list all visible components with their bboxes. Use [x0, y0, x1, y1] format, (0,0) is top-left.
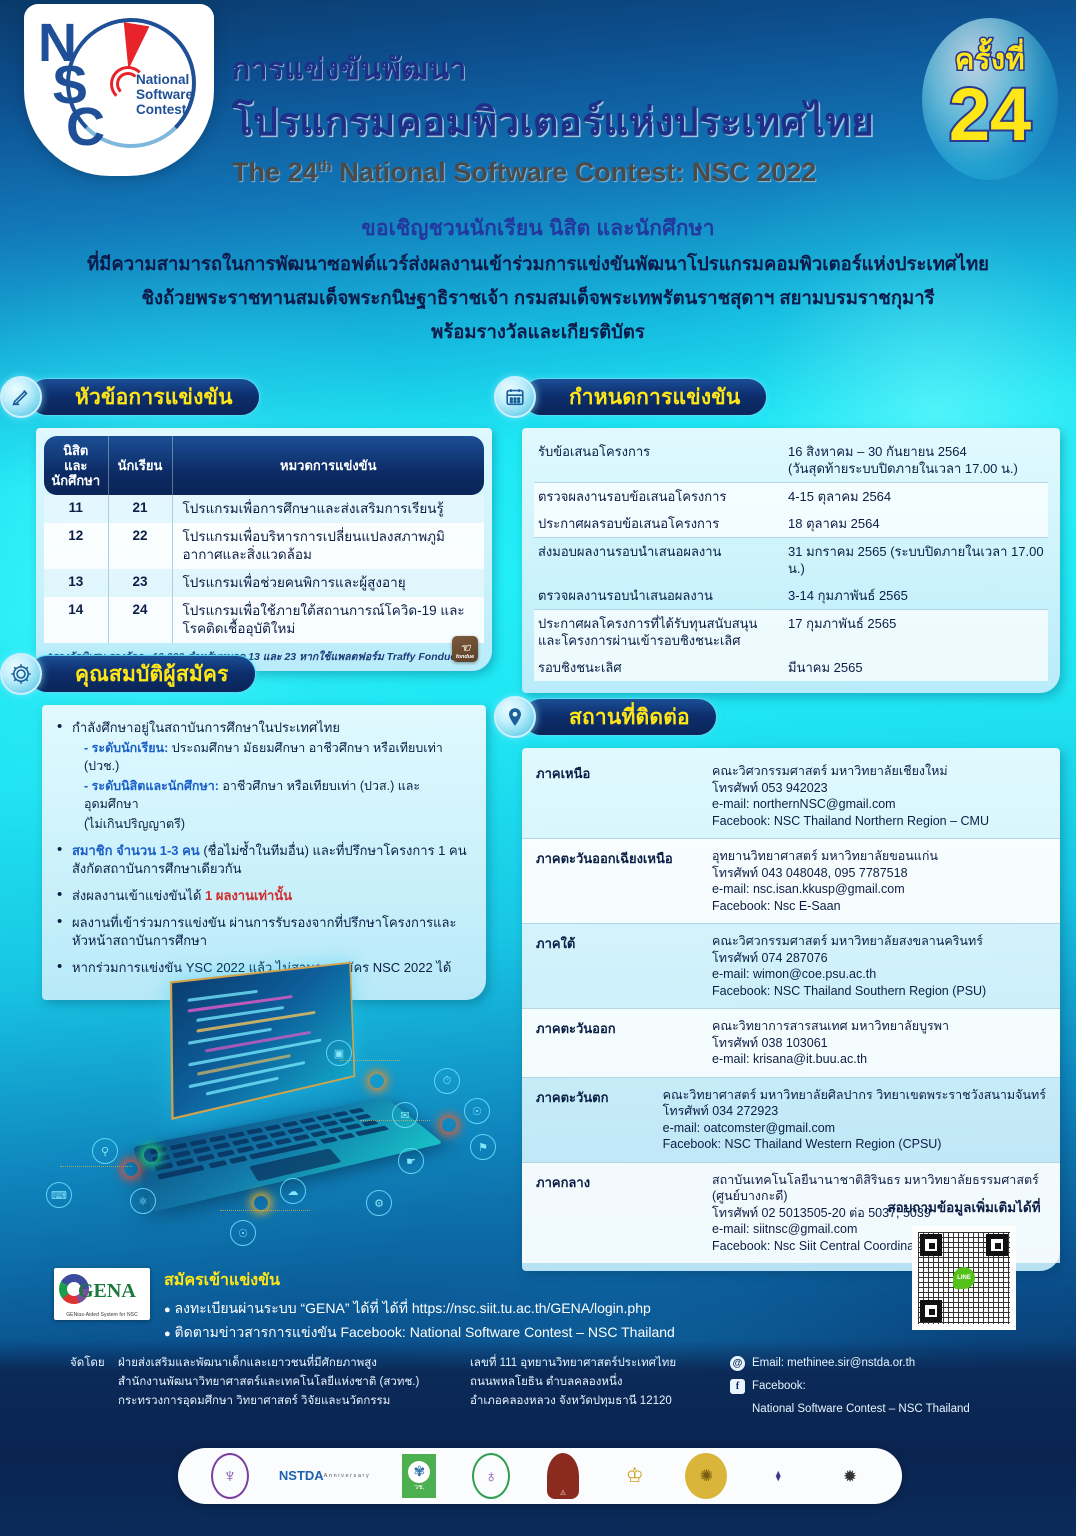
cell-uni-code: 13 — [44, 569, 108, 597]
organizer-label: จัดโดย — [70, 1354, 118, 1419]
schedule-row-label: ตรวจผลงานรอบนำเสนอผลงาน — [538, 587, 788, 604]
contact-row: ภาคใต้ คณะวิศวกรรมศาสตร์ มหาวิทยาลัยสงขล… — [522, 923, 1060, 1008]
sponsor-logo-mahidol: ♁ — [468, 1453, 514, 1499]
schedule-row-label: ตรวจผลงานรอบข้อเสนอโครงการ — [538, 488, 788, 505]
qual-subitem: - ระดับนักเรียน: ประถมศึกษา มัธยมศึกษา อ… — [72, 739, 472, 775]
col-header-university-l1: นิสิต — [48, 443, 104, 458]
line-qr-code[interactable]: LINE — [912, 1226, 1016, 1330]
qual-subitem: - ระดับนิสิตและนักศึกษา: อาชีวศึกษา หรือ… — [72, 777, 472, 813]
cell-uni-code: 12 — [44, 523, 108, 569]
nstda-logo-subtitle: Anniversary — [324, 1470, 371, 1482]
qualifications-section-pill: คุณสมบัติผู้สมัคร — [28, 655, 256, 693]
contact-details: คณะวิทยาศาสตร์ มหาวิทยาลัยศิลปากร วิทยาเ… — [663, 1087, 1046, 1153]
network-node-icon: ⌨ — [46, 1182, 72, 1208]
contact-region: ภาคใต้ — [536, 933, 712, 999]
sponsor-logo-thammasat: ◬ — [540, 1453, 586, 1499]
schedule-row-value: 3-14 กุมภาพันธ์ 2565 — [788, 587, 1048, 604]
contact-row: ภาคตะวันออกเฉียงเหนือ อุทยานวิทยาศาสตร์ … — [522, 838, 1060, 923]
registration-text: สมัครเข้าแข่งขัน ● ลงทะเบียนผ่านระบบ “GE… — [164, 1268, 675, 1345]
location-pin-icon — [494, 696, 536, 738]
network-node-icon: ▣ — [326, 1040, 352, 1066]
schedule-row: รับข้อเสนอโครงการ 16 สิงหาคม – 30 กันยาย… — [534, 438, 1048, 482]
contact-email: e-mail: wimon@coe.psu.ac.th — [712, 966, 1046, 983]
code-line — [197, 1054, 291, 1076]
organizer-line-2: สำนักงานพัฒนาวิทยาศาสตร์และเทคโนโลยีแห่ง… — [118, 1373, 419, 1392]
nrct-glyph-icon: ✾ — [408, 1461, 430, 1483]
sponsor-bar: ♆ NSTDA Anniversary ✾ วช. ♁ ◬ ♔ — [178, 1448, 902, 1504]
table-row: 12 22 โปรแกรมเพื่อบริหารการเปลี่ยนแปลงสภ… — [44, 523, 484, 569]
sponsor-logo-nstda: NSTDA Anniversary — [279, 1453, 371, 1499]
cell-category-name: โปรแกรมเพื่อบริหารการเปลี่ยนแปลงสภาพภูมิ… — [172, 523, 484, 569]
cell-category-name: โปรแกรมเพื่อใช้ภายใต้สถานการณ์โควิด-19 แ… — [172, 597, 484, 643]
invitation-line-2: ชิงถ้วยพระราชทานสมเด็จพระกนิษฐาธิราชเจ้า… — [0, 284, 1076, 313]
contact-details: คณะวิศวกรรมศาสตร์ มหาวิทยาลัยสงขลานครินท… — [712, 933, 1046, 999]
qual-sub-label: - ระดับนิสิตและนักศึกษา: — [84, 779, 219, 793]
schedule-section-title: กำหนดการแข่งขัน — [569, 381, 740, 414]
address-line-3: อำเภอคลองหลวง จังหวัดปทุมธานี 12120 — [470, 1392, 730, 1411]
categories-header-row: นิสิต และนักศึกษา นักเรียน หมวดการแข่งขั… — [44, 436, 484, 495]
categories-table-head: นิสิต และนักศึกษา นักเรียน หมวดการแข่งขั… — [44, 436, 484, 495]
organizer-line-1: ฝ่ายส่งเสริมและพัฒนาเด็กและเยาวชนที่มีศั… — [118, 1354, 419, 1373]
qual-item-text: กำลังศึกษาอยู่ในสถาบันการศึกษาในประเทศไท… — [72, 720, 340, 735]
line-logo-icon: LINE — [953, 1267, 975, 1289]
qualifications-list: กำลังศึกษาอยู่ในสถาบันการศึกษาในประเทศไท… — [54, 719, 472, 977]
col-header-category: หมวดการแข่งขัน — [172, 436, 484, 495]
calendar-icon — [494, 376, 536, 418]
sponsor-logo-nrct: ✾ วช. — [396, 1453, 442, 1499]
invitation-line-1: ที่มีความสามารถในการพัฒนาซอฟต์แวร์ส่งผลง… — [0, 250, 1076, 279]
cell-uni-code: 14 — [44, 597, 108, 643]
contact-details: อุทยานวิทยาศาสตร์ มหาวิทยาลัยขอนแก่น โทร… — [712, 848, 1046, 914]
footer-contact: @ Email: methinee.sir@nstda.or.th f Face… — [730, 1354, 1030, 1419]
qual-sub-label: - ระดับนักเรียน: — [84, 741, 168, 755]
network-node-icon: ☁ — [280, 1178, 306, 1204]
registration-title: สมัครเข้าแข่งขัน — [164, 1268, 675, 1293]
cell-category-name: โปรแกรมเพื่อช่วยคนพิการและผู้สูงอายุ — [172, 569, 484, 597]
contact-institution: คณะวิทยาศาสตร์ มหาวิทยาลัยศิลปากร วิทยาเ… — [663, 1087, 1046, 1104]
contact-region: ภาคตะวันออก — [536, 1018, 712, 1068]
cell-category-name: โปรแกรมเพื่อการศึกษาและส่งเสริมการเรียนร… — [172, 495, 484, 523]
sponsor-logo-tri: ⧫ — [755, 1453, 801, 1499]
gear-icon — [0, 653, 42, 695]
table-row: 14 24 โปรแกรมเพื่อใช้ภายใต้สถานการณ์โควิ… — [44, 597, 484, 643]
contact-section-header: สถานที่ติดต่อ — [494, 698, 1076, 736]
contact-facebook: Facebook: NSC Thailand Northern Region –… — [712, 813, 1046, 830]
contact-section: สถานที่ติดต่อ ภาคเหนือ คณะวิศวกรรมศาสตร์… — [494, 698, 1076, 1271]
qualifications-section-header: คุณสมบัติผู้สมัคร — [0, 655, 510, 693]
contact-email: e-mail: krisana@it.buu.ac.th — [712, 1051, 1046, 1068]
categories-table-body: 11 21 โปรแกรมเพื่อการศึกษาและส่งเสริมการ… — [44, 495, 484, 643]
nstda-logo-text: NSTDA — [279, 1470, 324, 1482]
contact-region: ภาคตะวันตก — [536, 1087, 663, 1153]
cell-uni-code: 11 — [44, 495, 108, 523]
logo-wordmark: National Software Contest — [136, 72, 212, 117]
network-node-icon: ☛ — [398, 1148, 424, 1174]
edition-badge-number: 24 — [922, 76, 1058, 154]
footer-facebook-label: Facebook: — [752, 1377, 806, 1396]
table-row: 11 21 โปรแกรมเพื่อการศึกษาและส่งเสริมการ… — [44, 495, 484, 523]
logo-letters: N S C — [38, 22, 148, 162]
logo-word-software: Software — [136, 87, 212, 102]
list-item: ส่งผลงานเข้าแข่งขันได้ 1 ผลงานเท่านั้น — [54, 887, 472, 905]
bullet-dot-icon: ● — [164, 1328, 171, 1340]
footer-facebook-value: National Software Contest – NSC Thailand — [730, 1400, 1030, 1419]
title-en-ordinal: th — [318, 158, 332, 175]
schedule-row: ประกาศผลโครงการที่ได้รับทุนสนับสนุน และโ… — [534, 609, 1048, 654]
invitation-line-3: พร้อมรางวัลและเกียรติบัตร — [0, 318, 1076, 347]
schedule-row: ประกาศผลรอบข้อเสนอโครงการ 18 ตุลาคม 2564 — [534, 510, 1048, 537]
nsc-logo: N S C National Software Contest — [24, 4, 214, 176]
sponsor-logo-kasetsart: ✹ — [827, 1453, 873, 1499]
contact-section-title: สถานที่ติดต่อ — [569, 701, 690, 734]
invitation-block: ขอเชิญชวนนักเรียน นิสิต และนักศึกษา ที่ม… — [0, 212, 1076, 347]
schedule-row-value: 16 สิงหาคม – 30 กันยายน 2564 (วันสุดท้าย… — [788, 443, 1048, 477]
contact-section-pill: สถานที่ติดต่อ — [522, 698, 717, 736]
network-node-icon: ⚲ — [92, 1138, 118, 1164]
chulalongkorn-logo-icon: ♆ — [211, 1453, 249, 1499]
schedule-row-value: 4-15 ตุลาคม 2564 — [788, 488, 1048, 505]
title-en-pre: The 24 — [232, 157, 318, 187]
contact-details: คณะวิทยาการสารสนเทศ มหาวิทยาลัยบูรพา โทร… — [712, 1018, 1046, 1068]
categories-table: นิสิต และนักศึกษา นักเรียน หมวดการแข่งขั… — [44, 436, 484, 643]
schedule-row-label: ส่งมอบผลงานรอบนำเสนอผลงาน — [538, 543, 788, 577]
col-header-university-l2: และนักศึกษา — [48, 458, 104, 488]
schedule-section-header: กำหนดการแข่งขัน — [494, 378, 1076, 416]
schedule-row: ส่งมอบผลงานรอบนำเสนอผลงาน 31 มกราคม 2565… — [534, 537, 1048, 582]
contact-phone: โทรศัพท์ 038 103061 — [712, 1035, 1046, 1052]
list-item: กำลังศึกษาอยู่ในสถาบันการศึกษาในประเทศไท… — [54, 719, 472, 833]
table-row: 13 23 โปรแกรมเพื่อช่วยคนพิการและผู้สูงอา… — [44, 569, 484, 597]
sponsor-logo-chulalongkorn: ♆ — [207, 1453, 253, 1499]
sponsor-logo-kmutt: ♔ — [612, 1453, 658, 1499]
schedule-row-label: รอบชิงชนะเลิศ — [538, 659, 788, 676]
schedule-row-value: 17 กุมภาพันธ์ 2565 — [788, 615, 1048, 649]
footer-facebook-item[interactable]: f Facebook: — [730, 1377, 1030, 1396]
schedule-row-value: 18 ตุลาคม 2564 — [788, 515, 1048, 532]
qual-sub-rest: (ไม่เกินปริญญาตรี) — [84, 817, 185, 831]
contact-row: ภาคตะวันตก คณะวิทยาศาสตร์ มหาวิทยาลัยศิล… — [522, 1077, 1060, 1162]
contact-email: e-mail: oatcomster@gmail.com — [663, 1120, 1046, 1137]
contact-institution: คณะวิศวกรรมศาสตร์ มหาวิทยาลัยสงขลานครินท… — [712, 933, 1046, 950]
qual-subitem: (ไม่เกินปริญญาตรี) — [72, 815, 472, 833]
sponsor-logo-gold-seal: ✺ — [683, 1453, 729, 1499]
col-header-school: นักเรียน — [108, 436, 172, 495]
cell-school-code: 22 — [108, 523, 172, 569]
contact-row: ภาคเหนือ คณะวิศวกรรมศาสตร์ มหาวิทยาลัยเช… — [522, 754, 1060, 838]
nrct-caption: วช. — [414, 1483, 425, 1492]
categories-section: หัวข้อการแข่งขัน นิสิต และนักศึกษา นักเร… — [0, 378, 510, 671]
code-line — [188, 990, 258, 1002]
contact-facebook: Facebook: NSC Thailand Western Region (C… — [663, 1136, 1046, 1153]
mahidol-logo-icon: ♁ — [472, 1453, 510, 1499]
contact-email: e-mail: northernNSC@gmail.com — [712, 796, 1046, 813]
schedule-row: รอบชิงชนะเลิศ มีนาคม 2565 — [534, 654, 1048, 681]
email-icon: @ — [730, 1356, 745, 1371]
kasetsart-logo-icon: ✹ — [828, 1454, 872, 1498]
schedule-row-value-line2: (วันสุดท้ายระบบปิดภายในเวลา 17.00 น.) — [788, 460, 1048, 477]
facebook-icon: f — [730, 1379, 745, 1394]
footer-columns: จัดโดย ฝ่ายส่งเสริมและพัฒนาเด็กและเยาวชน… — [0, 1354, 1076, 1419]
contact-phone: โทรศัพท์ 043 048048, 095 7787518 — [712, 865, 1046, 882]
contact-email: e-mail: nsc.isan.kkusp@gmail.com — [712, 881, 1046, 898]
title-en-post: National Software Contest: NSC 2022 — [332, 157, 817, 187]
gena-logo-subtitle: GENius-Aided System for NSC — [56, 1312, 148, 1318]
contact-region: ภาคเหนือ — [536, 763, 712, 829]
schedule-row: ตรวจผลงานรอบนำเสนอผลงาน 3-14 กุมภาพันธ์ … — [534, 582, 1048, 609]
schedule-row-value: 31 มกราคม 2565 (ระบบปิดภายในเวลา 17.00 น… — [788, 543, 1048, 577]
qual-item-text: ส่งผลงานเข้าแข่งขันได้ — [72, 888, 205, 903]
logo-word-contest: Contest — [136, 102, 212, 117]
contact-region: ภาคกลาง — [536, 1172, 712, 1255]
cell-school-code: 24 — [108, 597, 172, 643]
tri-logo-icon: ⧫ — [756, 1454, 800, 1498]
organizer-line-3: กระทรวงการอุดมศึกษา วิทยาศาสตร์ วิจัยและ… — [118, 1392, 419, 1411]
qual-item-highlight-red: 1 ผลงานเท่านั้น — [205, 888, 292, 903]
schedule-section: กำหนดการแข่งขัน รับข้อเสนอโครงการ 16 สิง… — [494, 378, 1076, 693]
schedule-row: ตรวจผลงานรอบข้อเสนอโครงการ 4-15 ตุลาคม 2… — [534, 482, 1048, 510]
contact-institution: สถาบันเทคโนโลยีนานาชาติสิรินธร มหาวิทยาล… — [712, 1172, 1046, 1189]
registration-block: GENA GENius-Aided System for NSC สมัครเข… — [54, 1268, 754, 1345]
col-header-university: นิสิต และนักศึกษา — [44, 436, 108, 495]
contact-institution: คณะวิศวกรรมศาสตร์ มหาวิทยาลัยเชียงใหม่ — [712, 763, 1046, 780]
schedule-row-value-line1: 16 สิงหาคม – 30 กันยายน 2564 — [788, 443, 1048, 460]
schedule-row-label: รับข้อเสนอโครงการ — [538, 443, 788, 477]
address-line-2: ถนนพหลโยธิน ตำบลคลองหนึ่ง — [470, 1373, 730, 1392]
title-line-3-english: The 24th National Software Contest: NSC … — [232, 157, 922, 188]
categories-section-pill: หัวข้อการแข่งขัน — [28, 378, 260, 416]
poster-title-block: การแข่งขันพัฒนา โปรแกรมคอมพิวเตอร์แห่งปร… — [232, 46, 922, 188]
title-line-1: การแข่งขันพัฒนา — [232, 46, 922, 93]
categories-card: นิสิต และนักศึกษา นักเรียน หมวดการแข่งขั… — [36, 428, 492, 671]
qr-finder-top-right — [986, 1234, 1008, 1256]
contact-region: ภาคตะวันออกเฉียงเหนือ — [536, 848, 712, 914]
contact-facebook: Facebook: Nsc E-Saan — [712, 898, 1046, 915]
qr-finder-bottom-left — [920, 1300, 942, 1322]
kmutt-logo-icon: ♔ — [618, 1453, 652, 1499]
organizer-lines: ฝ่ายส่งเสริมและพัฒนาเด็กและเยาวชนที่มีศั… — [118, 1354, 419, 1419]
contact-institution: อุทยานวิทยาศาสตร์ มหาวิทยาลัยขอนแก่น — [712, 848, 1046, 865]
cell-school-code: 23 — [108, 569, 172, 597]
gena-logo: GENA GENius-Aided System for NSC — [54, 1268, 150, 1320]
registration-bullet-text: ลงทะเบียนผ่านระบบ “GENA” ได้ที่ ได้ที่ h… — [175, 1300, 651, 1316]
schedule-row-label: ประกาศผลรอบข้อเสนอโครงการ — [538, 515, 788, 532]
registration-bullet[interactable]: ● ลงทะเบียนผ่านระบบ “GENA” ได้ที่ ได้ที่… — [164, 1297, 675, 1321]
contact-phone: โทรศัพท์ 053 942023 — [712, 780, 1046, 797]
gena-logo-text: GENA — [78, 1280, 136, 1303]
invitation-heading: ขอเชิญชวนนักเรียน นิสิต และนักศึกษา — [0, 212, 1076, 245]
edition-badge: ครั้งที่ 24 — [922, 18, 1058, 180]
network-node-icon: ⚙ — [366, 1190, 392, 1216]
categories-section-title: หัวข้อการแข่งขัน — [75, 381, 233, 414]
footer-address: เลขที่ 111 อุทยานวิทยาศาสตร์ประเทศไทย ถน… — [470, 1354, 730, 1419]
qr-finder-top-left — [920, 1234, 942, 1256]
fondue-glyph-icon: ☜ — [460, 642, 471, 654]
address-line-1: เลขที่ 111 อุทยานวิทยาศาสตร์ประเทศไทย — [470, 1354, 730, 1373]
qr-caption: สอบถามข้อมูลเพิ่มเติมได้ที่ — [874, 1196, 1054, 1218]
laptop-screen — [170, 962, 355, 1120]
thammasat-logo-icon: ◬ — [547, 1453, 579, 1499]
network-node-icon: ⚑ — [470, 1134, 496, 1160]
poster-header: N S C National Software Contest การแข่งข… — [0, 0, 1076, 200]
contact-card: ภาคเหนือ คณะวิศวกรรมศาสตร์ มหาวิทยาลัยเช… — [522, 748, 1060, 1271]
bullet-dot-icon: ● — [164, 1304, 171, 1316]
qr-block: สอบถามข้อมูลเพิ่มเติมได้ที่ LINE — [874, 1196, 1054, 1330]
qual-item-highlight: สมาชิก จำนวน 1-3 คน — [72, 843, 200, 858]
schedule-row-value: มีนาคม 2565 — [788, 659, 1048, 676]
schedule-row-label-line1: ประกาศผลโครงการที่ได้รับทุนสนับสนุน — [538, 615, 788, 632]
footer-email-label: Email: methinee.sir@nstda.or.th — [752, 1354, 915, 1373]
schedule-card: รับข้อเสนอโครงการ 16 สิงหาคม – 30 กันยาย… — [522, 428, 1060, 693]
schedule-section-pill: กำหนดการแข่งขัน — [522, 378, 767, 416]
contact-phone: โทรศัพท์ 074 287076 — [712, 950, 1046, 967]
network-node-icon: ⚛ — [130, 1188, 156, 1214]
footer-email-item[interactable]: @ Email: methinee.sir@nstda.or.th — [730, 1354, 1030, 1373]
gold-seal-logo-icon: ✺ — [685, 1453, 727, 1499]
qualifications-section-title: คุณสมบัติผู้สมัคร — [75, 658, 229, 691]
list-item: สมาชิก จำนวน 1-3 คน (ชื่อไม่ซ้ำในทีมอื่น… — [54, 842, 472, 878]
contact-phone: โทรศัพท์ 034 272923 — [663, 1103, 1046, 1120]
network-node-icon: ✉ — [392, 1102, 418, 1128]
network-node-icon: ⏱ — [434, 1068, 460, 1094]
network-node-icon: ☉ — [464, 1098, 490, 1124]
cell-school-code: 21 — [108, 495, 172, 523]
contact-facebook: Facebook: NSC Thailand Southern Region (… — [712, 983, 1046, 1000]
registration-bullet-text: ติดตามข่าวสารการแข่งขัน Facebook: Nation… — [175, 1324, 675, 1340]
title-line-2: โปรแกรมคอมพิวเตอร์แห่งประเทศไทย — [232, 91, 922, 153]
logo-word-national: National — [136, 72, 212, 87]
schedule-row-label-line2: และโครงการผ่านเข้ารอบชิงชนะเลิศ — [538, 632, 788, 649]
contact-row: ภาคตะวันออก คณะวิทยาการสารสนเทศ มหาวิทยา… — [522, 1008, 1060, 1077]
poster-root: N S C National Software Contest การแข่งข… — [0, 0, 1076, 1536]
footer-organizer: จัดโดย ฝ่ายส่งเสริมและพัฒนาเด็กและเยาวชน… — [70, 1354, 470, 1419]
poster-footer: จัดโดย ฝ่ายส่งเสริมและพัฒนาเด็กและเยาวชน… — [0, 1340, 1076, 1536]
categories-section-header: หัวข้อการแข่งขัน — [0, 378, 510, 416]
network-node-icon: ☉ — [230, 1220, 256, 1246]
nrct-logo-icon: ✾ วช. — [402, 1454, 436, 1498]
contact-details: คณะวิศวกรรมศาสตร์ มหาวิทยาลัยเชียงใหม่ โ… — [712, 763, 1046, 829]
laptop-illustration: ⚲ ⌨ ⚛ ▣ ⏱ ✉ ☉ ⚑ ☛ ☁ ⚙ ☉ — [40, 940, 510, 1240]
pencil-icon — [0, 376, 42, 418]
schedule-row-label: ประกาศผลโครงการที่ได้รับทุนสนับสนุน และโ… — [538, 615, 788, 649]
contact-institution: คณะวิทยาการสารสนเทศ มหาวิทยาลัยบูรพา — [712, 1018, 1046, 1035]
